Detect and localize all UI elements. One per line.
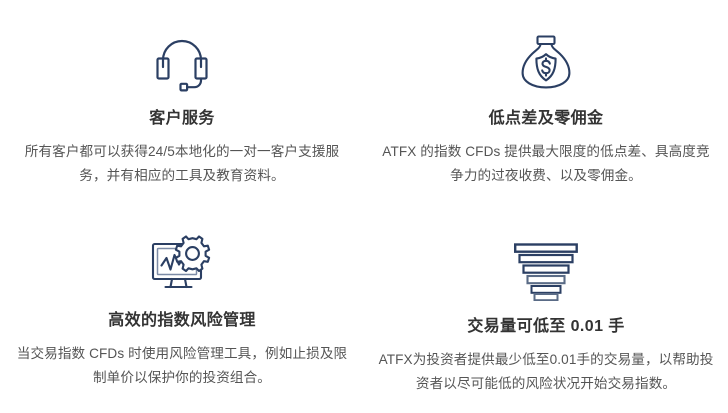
feature-title: 低点差及零佣金 [489, 109, 604, 129]
feature-description: ATFX 的指数 CFDs 提供最大限度的低点差、具高度竞争力的过夜收费、以及零… [378, 140, 714, 188]
monitor-chart-gear-icon [148, 221, 216, 309]
feature-description: ATFX为投资者提供最少低至0.01手的交易量，以帮助投资者以尽可能低的风险状况… [378, 348, 714, 396]
funnel-bars-icon [510, 227, 582, 315]
feature-title: 客户服务 [149, 109, 215, 129]
feature-card-low-spread: 低点差及零佣金 ATFX 的指数 CFDs 提供最大限度的低点差、具高度竞争力的… [364, 0, 728, 207]
feature-card-customer-service: 客户服务 所有客户都可以获得24/5本地化的一对一客户支援服务，并有相应的工具及… [0, 0, 364, 207]
features-grid: 客户服务 所有客户都可以获得24/5本地化的一对一客户支援服务，并有相应的工具及… [0, 0, 728, 413]
feature-title: 交易量可低至 0.01 手 [467, 317, 624, 337]
feature-description: 所有客户都可以获得24/5本地化的一对一客户支援服务，并有相应的工具及教育资料。 [14, 140, 350, 188]
feature-card-lot-size: 交易量可低至 0.01 手 ATFX为投资者提供最少低至0.01手的交易量，以帮… [364, 207, 728, 413]
feature-card-risk-management: 高效的指数风险管理 当交易指数 CFDs 时使用风险管理工具，例如止损及限制单价… [0, 207, 364, 413]
headset-icon [150, 18, 214, 106]
money-bag-shield-icon [514, 18, 578, 106]
feature-title: 高效的指数风险管理 [108, 311, 256, 331]
feature-description: 当交易指数 CFDs 时使用风险管理工具，例如止损及限制单价以保护你的投资组合。 [14, 342, 350, 390]
